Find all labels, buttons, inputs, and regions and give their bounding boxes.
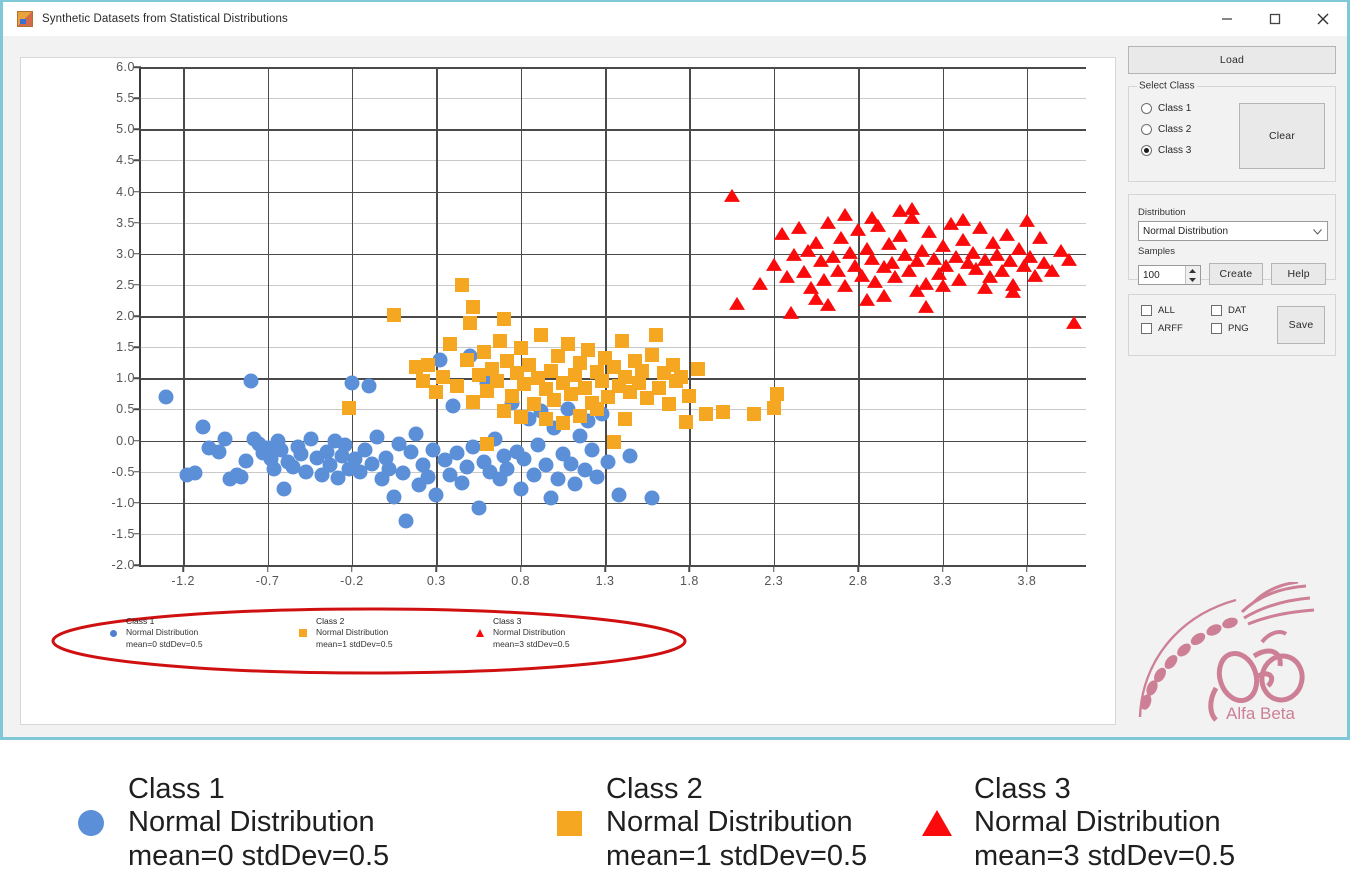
data-point-square	[581, 343, 595, 357]
y-axis-tick-label: -0.5	[111, 465, 135, 479]
legend-params-label: mean=0 stdDev=0.5	[126, 639, 203, 649]
gridline-horizontal-major	[141, 254, 1086, 256]
radio-class-3[interactable]: Class 3	[1141, 145, 1191, 156]
checkbox-label: PNG	[1228, 323, 1249, 334]
data-point-circle	[387, 489, 402, 504]
legend-item-class-1: Class 1 Normal Distribution mean=0 stdDe…	[107, 616, 203, 650]
checkbox-icon[interactable]	[1211, 305, 1222, 316]
select-class-group-label: Select Class	[1137, 81, 1197, 92]
data-point-triangle	[752, 276, 768, 289]
x-axis-tick-mark	[942, 565, 944, 572]
gridline-horizontal-minor	[141, 534, 1086, 535]
data-point-square	[573, 409, 587, 423]
data-point-square	[747, 407, 761, 421]
data-point-triangle	[842, 245, 858, 258]
data-point-triangle	[1027, 268, 1043, 281]
y-axis-tick-label: -1.0	[111, 496, 135, 510]
data-point-circle	[299, 464, 314, 479]
data-point-square	[421, 358, 435, 372]
y-axis-tick-label: 1.5	[116, 340, 135, 354]
data-point-triangle	[850, 223, 866, 236]
x-axis-tick-label: 1.3	[596, 574, 615, 588]
data-point-square	[716, 405, 730, 419]
data-point-square	[770, 387, 784, 401]
data-point-triangle	[808, 235, 824, 248]
chevron-down-icon	[1313, 222, 1322, 240]
y-axis-tick-label: -1.5	[111, 527, 135, 541]
data-point-circle	[611, 488, 626, 503]
data-point-triangle	[876, 289, 892, 302]
legend-params-label: mean=3 stdDev=0.5	[493, 639, 570, 649]
data-point-square	[493, 334, 507, 348]
data-point-circle	[294, 447, 309, 462]
window-title: Synthetic Datasets from Statistical Dist…	[42, 13, 288, 25]
gridline-horizontal-minor	[141, 160, 1086, 161]
data-point-square	[595, 374, 609, 388]
radio-label: Class 3	[1158, 145, 1191, 156]
enlarged-legend-params: mean=3 stdDev=0.5	[974, 840, 1235, 872]
data-point-square	[649, 328, 663, 342]
checkbox-png[interactable]: PNG	[1211, 323, 1273, 334]
legend-distribution-label: Normal Distribution	[316, 627, 388, 637]
x-axis-tick-mark	[267, 565, 269, 572]
radio-icon[interactable]	[1141, 103, 1152, 114]
x-axis-tick-mark	[689, 565, 691, 572]
legend-params-label: mean=1 stdDev=0.5	[316, 639, 393, 649]
legend-class-label: Class 3	[493, 616, 521, 626]
data-point-square	[682, 389, 696, 403]
data-point-triangle	[830, 264, 846, 277]
y-axis-tick-mark	[134, 97, 141, 99]
y-axis-tick-mark	[134, 315, 141, 317]
data-point-circle	[395, 465, 410, 480]
data-point-square	[615, 334, 629, 348]
data-point-circle	[398, 514, 413, 529]
data-point-square	[662, 397, 676, 411]
data-point-square	[618, 370, 632, 384]
data-point-triangle	[796, 265, 812, 278]
data-point-square	[522, 358, 536, 372]
y-axis-tick-mark	[134, 440, 141, 442]
data-point-triangle	[1032, 231, 1048, 244]
gridline-vertical	[774, 67, 776, 565]
window-body: 6.05.55.04.54.03.53.02.52.01.51.00.50.0-…	[3, 36, 1347, 737]
data-point-square	[679, 415, 693, 429]
data-point-triangle	[935, 279, 951, 292]
create-button[interactable]: Create	[1209, 263, 1264, 285]
samples-stepper[interactable]: 100	[1138, 265, 1201, 285]
stepper-up-icon[interactable]	[1186, 266, 1200, 275]
y-axis-tick-mark	[134, 222, 141, 224]
checkbox-arff[interactable]: ARFF	[1141, 323, 1203, 334]
y-axis-tick-label: 2.0	[116, 309, 135, 323]
data-point-square	[691, 362, 705, 376]
legend-class-label: Class 2	[316, 616, 344, 626]
gridline-horizontal-major	[141, 67, 1086, 69]
data-point-circle	[530, 438, 545, 453]
save-options-group: ALL DAT ARFF PNG Save	[1128, 294, 1336, 356]
y-axis-tick-label: 3.5	[116, 216, 135, 230]
data-point-square	[527, 397, 541, 411]
data-point-circle	[589, 469, 604, 484]
y-axis-tick-label: 4.0	[116, 185, 135, 199]
enlarged-legend-item-class-3: Class 3 Normal Distribution mean=3 stdDe…	[920, 773, 1235, 873]
data-point-triangle	[999, 228, 1015, 241]
legend-marker-triangle-icon	[920, 810, 954, 836]
data-point-square	[497, 404, 511, 418]
data-point-triangle	[918, 300, 934, 313]
x-axis-tick-mark	[520, 565, 522, 572]
radio-label: Class 1	[1158, 103, 1191, 114]
y-axis-tick-label: 5.0	[116, 122, 135, 136]
enlarged-legend-params: mean=0 stdDev=0.5	[128, 840, 389, 872]
data-point-triangle	[951, 273, 967, 286]
data-point-square	[480, 437, 494, 451]
data-point-square	[551, 349, 565, 363]
data-point-triangle	[820, 215, 836, 228]
distribution-label: Distribution	[1138, 207, 1326, 218]
data-point-triangle	[833, 231, 849, 244]
y-axis-tick-mark	[134, 66, 141, 68]
data-point-triangle	[729, 296, 745, 309]
stepper-buttons[interactable]	[1185, 266, 1200, 284]
data-point-circle	[409, 427, 424, 442]
data-point-square	[590, 402, 604, 416]
enlarged-legend-class: Class 1	[128, 773, 225, 805]
y-axis-tick-mark	[134, 502, 141, 504]
select-class-group: Select Class Class 1 Class 2 Class 3	[1128, 86, 1336, 182]
gridline-horizontal-major	[141, 129, 1086, 131]
save-button[interactable]: Save	[1277, 306, 1325, 344]
data-point-triangle	[1005, 285, 1021, 298]
data-point-square	[466, 300, 480, 314]
x-axis-tick-mark	[436, 565, 438, 572]
data-point-square	[416, 374, 430, 388]
gridline-horizontal-major	[141, 503, 1086, 505]
enlarged-legend: Class 1 Normal Distribution mean=0 stdDe…	[0, 755, 1350, 886]
x-axis-tick-mark	[857, 565, 859, 572]
data-point-square	[618, 412, 632, 426]
data-point-square	[564, 387, 578, 401]
data-point-circle	[429, 488, 444, 503]
distribution-select[interactable]: Normal Distribution	[1138, 221, 1328, 241]
data-point-circle	[567, 477, 582, 492]
x-axis-tick-label: 0.8	[511, 574, 530, 588]
data-point-square	[539, 412, 553, 426]
data-point-circle	[446, 399, 461, 414]
data-point-circle	[238, 454, 253, 469]
radio-class-2[interactable]: Class 2	[1141, 124, 1191, 135]
checkbox-dat[interactable]: DAT	[1211, 305, 1273, 316]
x-axis-tick-mark	[773, 565, 775, 572]
y-axis-tick-label: -2.0	[111, 558, 135, 572]
data-point-circle	[459, 459, 474, 474]
data-point-triangle	[909, 284, 925, 297]
checkbox-icon[interactable]	[1141, 323, 1152, 334]
data-point-circle	[188, 465, 203, 480]
enlarged-legend-class: Class 3	[974, 773, 1071, 805]
data-point-triangle	[1044, 264, 1060, 277]
data-point-square	[556, 416, 570, 430]
x-axis-tick-label: -0.2	[340, 574, 364, 588]
data-point-triangle	[859, 293, 875, 306]
y-axis-tick-label: 3.0	[116, 247, 135, 261]
data-point-triangle	[972, 220, 988, 233]
close-button[interactable]	[1299, 2, 1347, 36]
gridline-vertical	[689, 67, 691, 565]
data-point-square	[534, 328, 548, 342]
maximize-button[interactable]	[1251, 2, 1299, 36]
logo-text: Alfa Beta	[1226, 704, 1295, 724]
chart-legend: Class 1 Normal Distribution mean=0 stdDe…	[49, 606, 689, 676]
y-axis-tick-mark	[134, 409, 141, 411]
data-point-circle	[544, 490, 559, 505]
samples-value: 100	[1139, 270, 1160, 281]
y-axis-tick-mark	[134, 129, 141, 131]
data-point-circle	[233, 469, 248, 484]
data-point-circle	[218, 432, 233, 447]
data-point-square	[436, 370, 450, 384]
data-point-circle	[159, 389, 174, 404]
class-radio-list: Class 1 Class 2 Class 3	[1141, 103, 1191, 166]
gridline-horizontal-minor	[141, 98, 1086, 99]
y-axis-tick-mark	[134, 471, 141, 473]
data-point-square	[578, 381, 592, 395]
data-point-circle	[454, 475, 469, 490]
data-point-square	[477, 345, 491, 359]
distribution-group: Distribution Normal Distribution Samples…	[1128, 194, 1336, 280]
data-point-triangle	[779, 270, 795, 283]
x-axis-tick-label: 3.8	[1017, 574, 1036, 588]
gridline-vertical	[1027, 67, 1029, 565]
legend-marker-circle-icon	[74, 810, 108, 836]
data-point-circle	[449, 445, 464, 460]
enlarged-legend-distribution: Normal Distribution	[128, 806, 375, 838]
enlarged-legend-distribution: Normal Distribution	[974, 806, 1221, 838]
minimize-button[interactable]	[1203, 2, 1251, 36]
data-point-triangle	[783, 306, 799, 319]
data-point-circle	[645, 490, 660, 505]
samples-row: 100 Create Help	[1138, 263, 1326, 285]
data-point-triangle	[955, 233, 971, 246]
data-point-triangle	[791, 220, 807, 233]
gridline-vertical	[605, 67, 607, 565]
gridline-vertical	[268, 67, 270, 565]
data-point-square	[561, 337, 575, 351]
x-axis-tick-label: 2.8	[849, 574, 868, 588]
data-point-circle	[404, 444, 419, 459]
data-point-circle	[243, 374, 258, 389]
data-point-triangle	[867, 275, 883, 288]
enlarged-legend-class: Class 2	[606, 773, 703, 805]
data-point-circle	[338, 438, 353, 453]
app-icon	[17, 11, 33, 27]
y-axis-tick-mark	[134, 160, 141, 162]
checkbox-all[interactable]: ALL	[1141, 305, 1203, 316]
x-axis-tick-label: -0.7	[256, 574, 280, 588]
x-axis-tick-mark	[351, 565, 353, 572]
data-point-square	[652, 381, 666, 395]
legend-distribution-label: Normal Distribution	[493, 627, 565, 637]
data-point-circle	[500, 461, 515, 476]
help-button[interactable]: Help	[1271, 263, 1326, 285]
y-axis-tick-mark	[134, 378, 141, 380]
checkbox-icon[interactable]	[1141, 305, 1152, 316]
data-point-triangle	[837, 279, 853, 292]
data-point-square	[342, 401, 356, 415]
data-point-circle	[370, 430, 385, 445]
data-point-square	[460, 353, 474, 367]
data-point-square	[632, 376, 646, 390]
data-point-square	[699, 407, 713, 421]
y-axis-tick-mark	[134, 346, 141, 348]
legend-marker-square-icon	[297, 629, 309, 637]
scatter-plot[interactable]: 6.05.55.04.54.03.53.02.52.01.51.00.50.0-…	[139, 67, 1086, 567]
x-axis-tick-label: 3.3	[933, 574, 952, 588]
y-axis-tick-mark	[134, 191, 141, 193]
data-point-circle	[196, 419, 211, 434]
data-point-circle	[517, 452, 532, 467]
legend-distribution-label: Normal Distribution	[126, 627, 198, 637]
data-point-square	[450, 379, 464, 393]
data-point-circle	[572, 428, 587, 443]
data-point-square	[490, 374, 504, 388]
y-axis-tick-label: 4.5	[116, 153, 135, 167]
data-point-triangle	[1066, 316, 1082, 329]
checkbox-label: ARFF	[1158, 323, 1183, 334]
x-axis-tick-mark	[182, 565, 184, 572]
data-point-triangle	[864, 210, 880, 223]
data-point-triangle	[955, 212, 971, 225]
title-bar: Synthetic Datasets from Statistical Dist…	[3, 2, 1347, 36]
data-point-square	[514, 410, 528, 424]
radio-label: Class 2	[1158, 124, 1191, 135]
x-axis-tick-label: 2.3	[764, 574, 783, 588]
gridline-horizontal-major	[141, 565, 1086, 567]
y-axis-tick-label: 1.0	[116, 371, 135, 385]
data-point-triangle	[766, 258, 782, 271]
enlarged-legend-params: mean=1 stdDev=0.5	[606, 840, 867, 872]
data-point-square	[387, 308, 401, 322]
window-buttons	[1203, 2, 1347, 36]
legend-marker-square-icon	[552, 811, 586, 836]
data-point-triangle	[825, 250, 841, 263]
gridline-vertical	[858, 67, 860, 565]
enlarged-legend-item-class-2: Class 2 Normal Distribution mean=1 stdDe…	[552, 773, 867, 873]
data-point-triangle	[820, 298, 836, 311]
data-point-circle	[466, 439, 481, 454]
data-point-square	[497, 312, 511, 326]
load-button[interactable]: Load	[1128, 46, 1336, 74]
x-axis-tick-mark	[604, 565, 606, 572]
data-point-square	[463, 316, 477, 330]
data-point-square	[645, 348, 659, 362]
data-point-square	[472, 368, 486, 382]
data-point-circle	[304, 432, 319, 447]
y-axis-tick-mark	[134, 564, 141, 566]
control-panel: Load Select Class Class 1 Class 2 Class …	[1128, 46, 1338, 736]
legend-marker-circle-icon	[107, 630, 119, 637]
data-point-square	[674, 370, 688, 384]
radio-class-1[interactable]: Class 1	[1141, 103, 1191, 114]
enlarged-legend-item-class-1: Class 1 Normal Distribution mean=0 stdDe…	[74, 773, 389, 873]
data-point-circle	[550, 472, 565, 487]
data-point-circle	[471, 500, 486, 515]
checkbox-label: ALL	[1158, 305, 1175, 316]
clear-button[interactable]: Clear	[1239, 103, 1325, 169]
data-point-circle	[361, 378, 376, 393]
y-axis-tick-mark	[134, 533, 141, 535]
gridline-horizontal-minor	[141, 347, 1086, 348]
enlarged-legend-distribution: Normal Distribution	[606, 806, 853, 838]
data-point-triangle	[892, 229, 908, 242]
legend-marker-triangle-icon	[474, 629, 486, 637]
legend-class-label: Class 1	[126, 616, 154, 626]
y-axis-tick-label: 0.0	[116, 434, 135, 448]
data-point-square	[429, 385, 443, 399]
data-point-triangle	[921, 225, 937, 238]
data-point-circle	[277, 482, 292, 497]
data-point-triangle	[837, 208, 853, 221]
samples-label: Samples	[1138, 246, 1326, 257]
x-axis-tick-label: 1.8	[680, 574, 699, 588]
gridline-horizontal-major	[141, 192, 1086, 194]
x-axis-tick-label: -1.2	[171, 574, 195, 588]
gridline-horizontal-major	[141, 316, 1086, 318]
radio-icon-selected[interactable]	[1141, 145, 1152, 156]
y-axis-tick-label: 6.0	[116, 60, 135, 74]
alfa-beta-logo: Alfa Beta	[1130, 582, 1330, 732]
data-point-circle	[513, 482, 528, 497]
chart-panel: 6.05.55.04.54.03.53.02.52.01.51.00.50.0-…	[20, 57, 1116, 725]
data-point-triangle	[724, 189, 740, 202]
radio-icon[interactable]	[1141, 124, 1152, 135]
checkbox-icon[interactable]	[1211, 323, 1222, 334]
application-window: Synthetic Datasets from Statistical Dist…	[0, 0, 1350, 740]
data-point-circle	[420, 469, 435, 484]
y-axis-tick-mark	[134, 284, 141, 286]
data-point-circle	[584, 442, 599, 457]
data-point-circle	[539, 458, 554, 473]
data-point-circle	[344, 376, 359, 391]
gridline-horizontal-minor	[141, 409, 1086, 410]
gridline-vertical	[352, 67, 354, 565]
y-axis-tick-mark	[134, 253, 141, 255]
data-point-square	[517, 377, 531, 391]
data-point-triangle	[904, 202, 920, 215]
data-point-triangle	[774, 227, 790, 240]
data-point-circle	[623, 449, 638, 464]
data-point-square	[607, 435, 621, 449]
x-axis-tick-label: 0.3	[427, 574, 446, 588]
checkbox-label: DAT	[1228, 305, 1246, 316]
data-point-square	[514, 341, 528, 355]
data-point-circle	[601, 455, 616, 470]
distribution-selected-value: Normal Distribution	[1143, 226, 1228, 237]
gridline-vertical	[183, 67, 185, 565]
data-point-square	[443, 337, 457, 351]
data-point-circle	[358, 442, 373, 457]
gridline-vertical	[943, 67, 945, 565]
data-point-square	[466, 395, 480, 409]
data-point-triangle	[1019, 214, 1035, 227]
y-axis-tick-label: 0.5	[116, 402, 135, 416]
data-point-square	[635, 364, 649, 378]
data-point-square	[767, 401, 781, 415]
data-point-square	[573, 356, 587, 370]
stepper-down-icon[interactable]	[1186, 275, 1200, 284]
legend-item-class-2: Class 2 Normal Distribution mean=1 stdDe…	[297, 616, 393, 650]
